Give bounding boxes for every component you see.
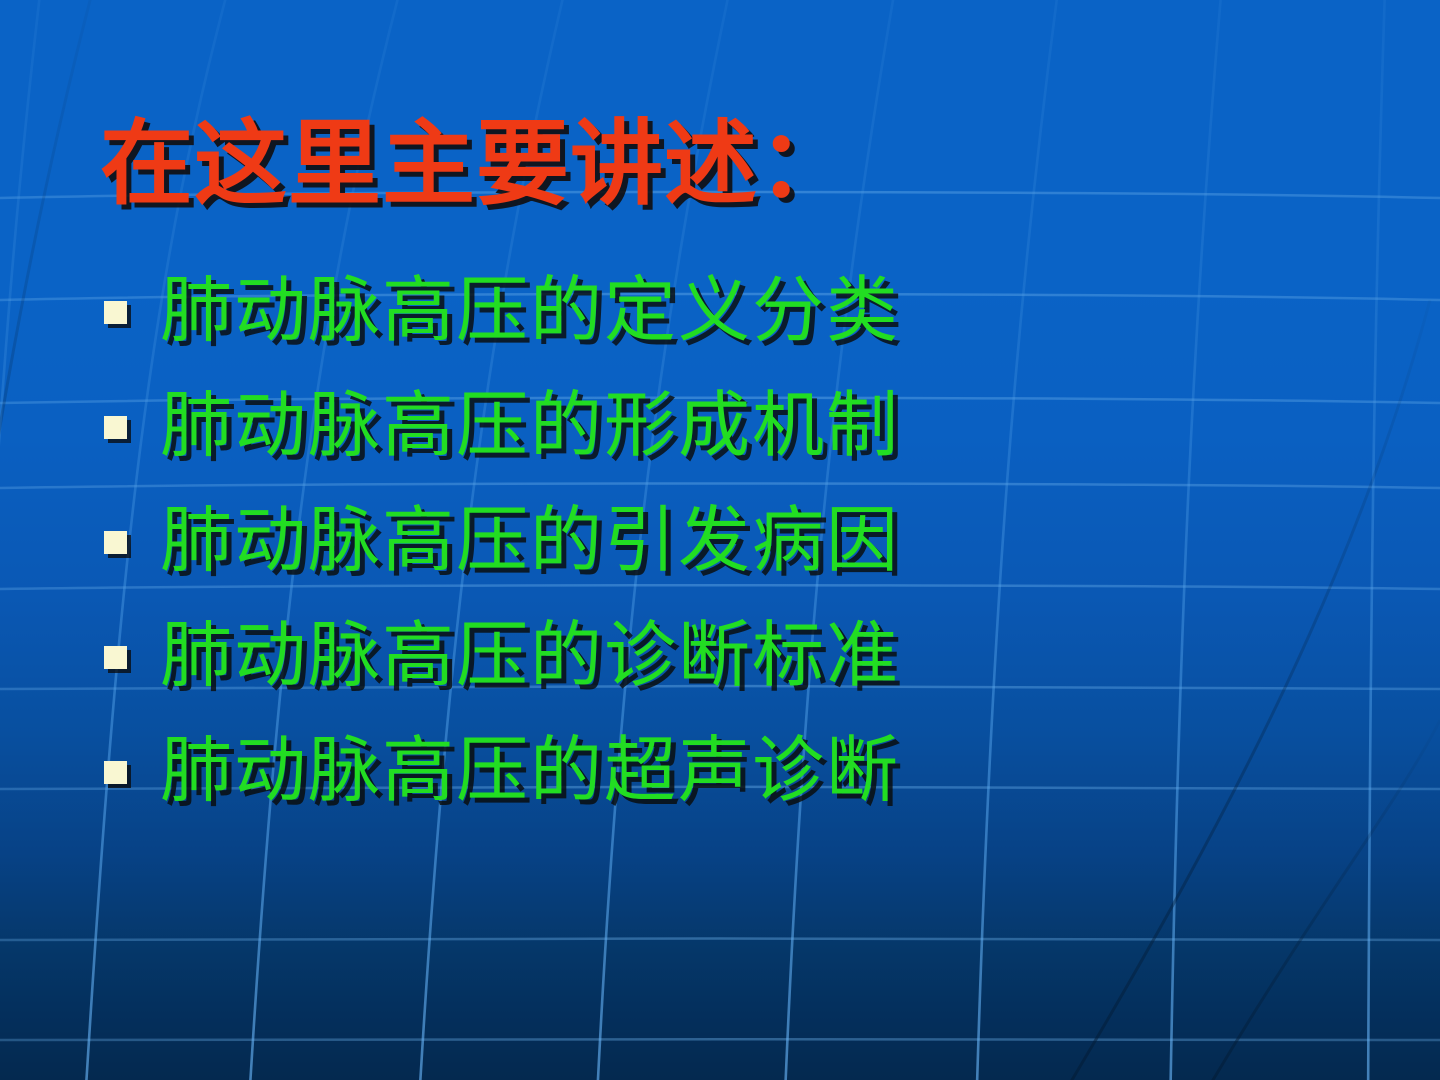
list-item[interactable]: 肺动脉高压的形成机制 bbox=[104, 367, 1304, 482]
list-item-label: 肺动脉高压的引发病因 bbox=[160, 504, 900, 576]
list-item[interactable]: 肺动脉高压的诊断标准 bbox=[104, 597, 1304, 712]
bullet-list: 肺动脉高压的定义分类 肺动脉高压的形成机制 肺动脉高压的引发病因 肺动脉高压的诊… bbox=[104, 252, 1304, 827]
list-item[interactable]: 肺动脉高压的定义分类 bbox=[104, 252, 1304, 367]
list-item[interactable]: 肺动脉高压的超声诊断 bbox=[104, 712, 1304, 827]
square-bullet-icon bbox=[104, 646, 127, 669]
square-bullet-icon bbox=[104, 761, 127, 784]
list-item[interactable]: 肺动脉高压的引发病因 bbox=[104, 482, 1304, 597]
square-bullet-icon bbox=[104, 531, 127, 554]
presentation-slide: 在这里主要讲述： 肺动脉高压的定义分类 肺动脉高压的形成机制 肺动脉高压的引发病… bbox=[0, 0, 1440, 1080]
list-item-label: 肺动脉高压的超声诊断 bbox=[160, 734, 900, 806]
list-item-label: 肺动脉高压的定义分类 bbox=[160, 274, 900, 346]
square-bullet-icon bbox=[104, 301, 127, 324]
square-bullet-icon bbox=[104, 416, 127, 439]
list-item-label: 肺动脉高压的诊断标准 bbox=[160, 619, 900, 691]
list-item-label: 肺动脉高压的形成机制 bbox=[160, 389, 900, 461]
slide-title: 在这里主要讲述： bbox=[100, 118, 852, 211]
